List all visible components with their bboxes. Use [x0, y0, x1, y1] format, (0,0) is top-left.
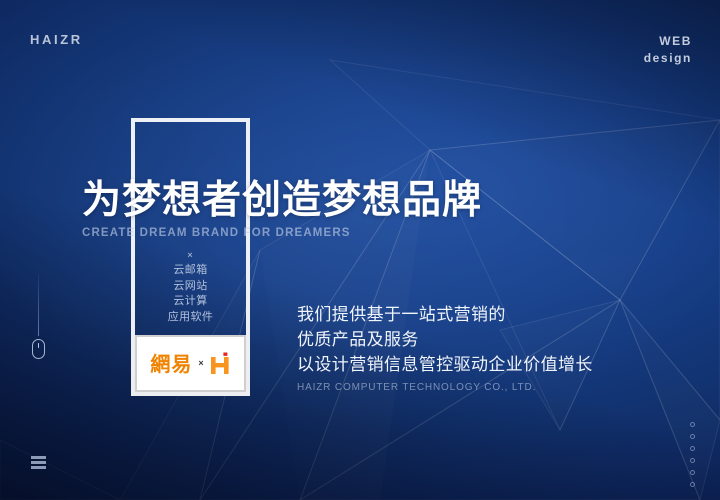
list-item[interactable]: 云网站: [131, 278, 250, 294]
site-logo[interactable]: HAIZR: [30, 32, 83, 47]
background-vignette: [0, 0, 720, 500]
slide-pagination[interactable]: [690, 422, 695, 487]
pagination-dot[interactable]: [690, 482, 695, 487]
list-item[interactable]: 应用软件: [131, 309, 250, 325]
mouse-scroll-icon[interactable]: [32, 339, 45, 359]
header-tagline-line1: WEB: [644, 33, 692, 50]
product-list: 云邮箱 云网站 云计算 应用软件: [131, 262, 250, 324]
hamburger-bar: [31, 461, 46, 464]
hamburger-menu-icon[interactable]: [31, 456, 46, 469]
haizr-h-mark-icon: [210, 352, 231, 376]
page-subtitle: CREATE DREAM BRAND FOR DREAMERS: [82, 227, 682, 239]
pagination-dot[interactable]: [690, 422, 695, 427]
list-item[interactable]: 云邮箱: [131, 262, 250, 278]
list-marker-icon: ×: [182, 251, 198, 260]
netease-logo: 網易: [150, 354, 192, 374]
company-name: HAIZR COMPUTER TECHNOLOGY CO., LTD.: [297, 382, 697, 393]
hero-text-block: 为梦想者创造梦想品牌 CREATE DREAM BRAND FOR DREAME…: [82, 180, 682, 239]
hero-banner: HAIZR WEB design 为梦想者创造梦想品牌 CREATE DREAM…: [0, 0, 720, 500]
header-tagline-line2: design: [644, 50, 692, 67]
copy-line-1: 我们提供基于一站式营销的: [297, 303, 697, 328]
pagination-dot[interactable]: [690, 446, 695, 451]
partner-logo-card: 網易 ×: [135, 335, 246, 392]
list-item[interactable]: 云计算: [131, 293, 250, 309]
times-separator-icon: ×: [198, 359, 203, 369]
pagination-dot[interactable]: [690, 470, 695, 475]
pagination-dot[interactable]: [690, 434, 695, 439]
hamburger-bar: [31, 466, 46, 469]
copy-line-3: 以设计营销信息管控驱动企业价值增长: [297, 353, 697, 378]
pagination-dot[interactable]: [690, 458, 695, 463]
hamburger-bar: [31, 456, 46, 459]
header-tagline: WEB design: [644, 33, 692, 68]
hero-copy-block: 我们提供基于一站式营销的 优质产品及服务 以设计营销信息管控驱动企业价值增长 H…: [297, 303, 697, 393]
copy-line-2: 优质产品及服务: [297, 328, 697, 353]
scroll-rail-line: [38, 274, 39, 336]
page-title: 为梦想者创造梦想品牌: [82, 180, 682, 222]
